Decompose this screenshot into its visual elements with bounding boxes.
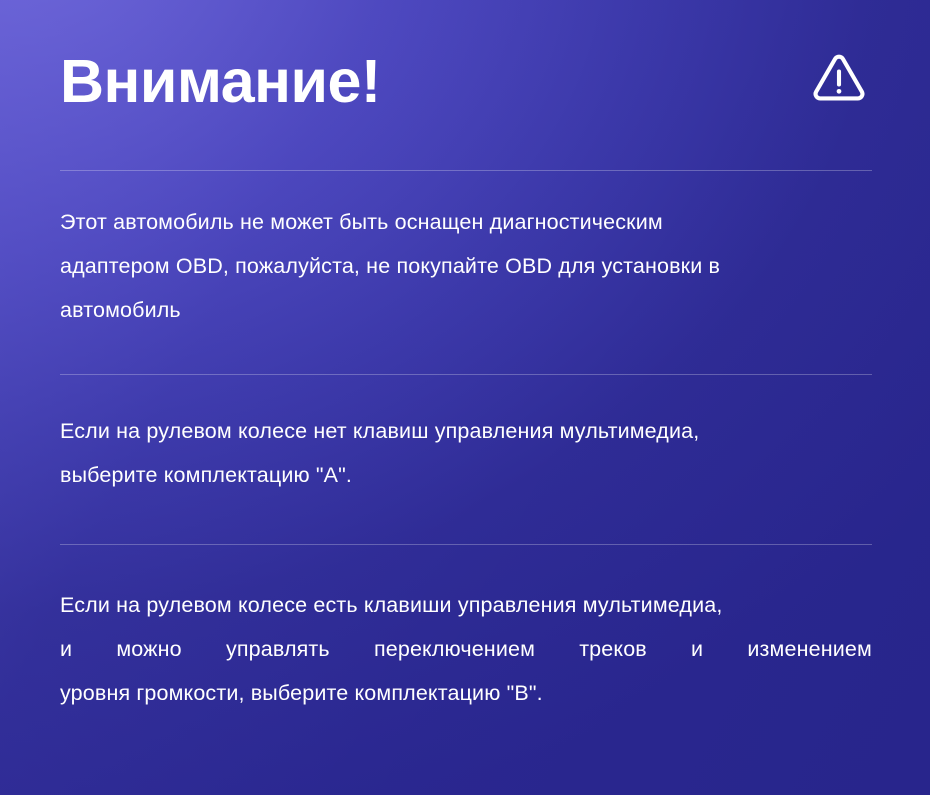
justified-word: и bbox=[691, 627, 703, 671]
justified-word: переключением bbox=[374, 627, 535, 671]
header: Внимание! bbox=[60, 0, 870, 170]
justified-word: треков bbox=[579, 627, 647, 671]
notice-line: Если на рулевом колесе нет клавиш управл… bbox=[60, 409, 872, 453]
justified-word: изменением bbox=[747, 627, 872, 671]
page-title: Внимание! bbox=[60, 51, 381, 112]
notice-line: адаптером OBD, пожалуйста, не покупайте … bbox=[60, 244, 872, 288]
justified-word: можно bbox=[116, 627, 181, 671]
notice-line: уровня громкости, выберите комплектацию … bbox=[60, 671, 872, 715]
notice-line: выберите комплектацию "A". bbox=[60, 453, 872, 497]
justified-word: и bbox=[60, 627, 72, 671]
notice-block-obd-warning: Этот автомобиль не может быть оснащен ди… bbox=[60, 171, 872, 374]
justified-word: управлять bbox=[226, 627, 330, 671]
notice-line: Если на рулевом колесе есть клавиши упра… bbox=[60, 583, 872, 627]
notice-line: Этот автомобиль не может быть оснащен ди… bbox=[60, 200, 872, 244]
notice-line: автомобиль bbox=[60, 288, 872, 332]
warning-notice-card: Внимание! Этот автомобиль не может быть … bbox=[0, 0, 930, 795]
warning-triangle-icon bbox=[810, 50, 868, 108]
notice-line-justified: и можно управлять переключением треков и… bbox=[60, 627, 872, 671]
notice-block-trim-b: Если на рулевом колесе есть клавиши упра… bbox=[60, 545, 872, 755]
notice-block-trim-a: Если на рулевом колесе нет клавиш управл… bbox=[60, 375, 872, 544]
